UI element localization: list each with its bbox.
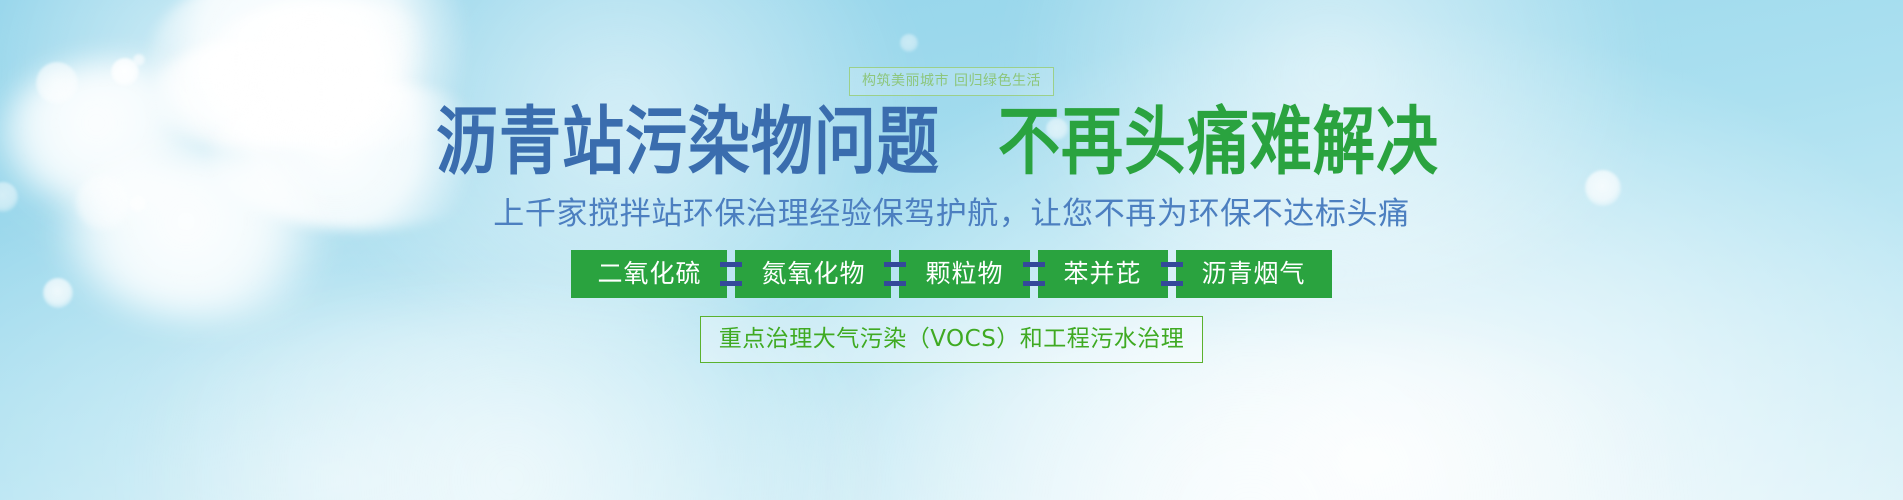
tag-separator bbox=[1168, 250, 1176, 298]
pollutant-tag-4[interactable]: 沥青烟气 bbox=[1176, 250, 1332, 298]
page-subtitle: 上千家搅拌站环保治理经验保驾护航，让您不再为环保不达标头痛 bbox=[493, 194, 1409, 234]
tag-separator bbox=[1030, 250, 1038, 298]
tagline-badge: 构筑美丽城市 回归绿色生活 bbox=[849, 67, 1054, 96]
pollutant-tag-2[interactable]: 颗粒物 bbox=[899, 250, 1029, 298]
page-title: 沥青站污染物问题 不再头痛难解决 bbox=[436, 110, 1467, 184]
headline-green-part: 不再头痛难解决 bbox=[998, 101, 1439, 184]
pollutant-tag-3[interactable]: 苯并芘 bbox=[1038, 250, 1168, 298]
headline-blue-part: 沥青站污染物问题 bbox=[436, 101, 940, 184]
pollutant-tag-row: 二氧化硫 氮氧化物 颗粒物 苯并芘 沥青烟气 bbox=[571, 250, 1331, 298]
banner-content: 构筑美丽城市 回归绿色生活 沥青站污染物问题 不再头痛难解决 上千家搅拌站环保治… bbox=[0, 0, 1903, 500]
pollutant-tag-0[interactable]: 二氧化硫 bbox=[571, 250, 727, 298]
tag-separator bbox=[891, 250, 899, 298]
pollutant-tag-1[interactable]: 氮氧化物 bbox=[735, 250, 891, 298]
tag-separator bbox=[727, 250, 735, 298]
service-scope-note: 重点治理大气污染（VOCS）和工程污水治理 bbox=[700, 316, 1204, 363]
promo-banner: 构筑美丽城市 回归绿色生活 沥青站污染物问题 不再头痛难解决 上千家搅拌站环保治… bbox=[0, 0, 1903, 500]
